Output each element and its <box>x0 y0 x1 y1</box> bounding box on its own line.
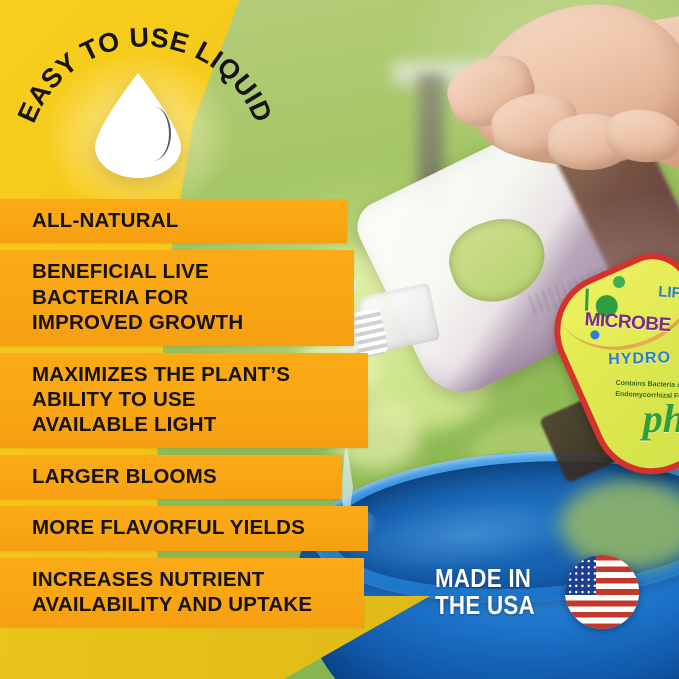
water-droplet-icon <box>95 73 181 178</box>
product-feature-image: MICROBE LIFE HYDRO Contains Bacteria & E… <box>0 0 679 679</box>
feature-band-all-natural: ALL-NATURAL <box>0 199 347 243</box>
feature-text: BENEFICIAL LIVE BACTERIA FOR IMPROVED GR… <box>32 259 344 335</box>
flag-canton <box>565 555 596 595</box>
made-in-usa-text: MADE IN THE USA <box>435 565 535 618</box>
feature-band-nutrient-uptake: INCREASES NUTRIENT AVAILABILITY AND UPTA… <box>0 558 364 628</box>
feature-text: LARGER BLOOMS <box>32 464 332 489</box>
feature-text: MAXIMIZES THE PLANT’S ABILITY TO USE AVA… <box>32 362 358 438</box>
flag-stars <box>565 555 596 595</box>
label-product-name: photo <box>643 395 679 442</box>
feature-text: MORE FLAVORFUL YIELDS <box>32 515 358 540</box>
us-flag-circle-icon <box>565 555 639 629</box>
label-line: HYDRO <box>608 349 671 369</box>
feature-band-beneficial-bacteria: BENEFICIAL LIVE BACTERIA FOR IMPROVED GR… <box>0 250 354 345</box>
feature-band-maximizes-light: MAXIMIZES THE PLANT’S ABILITY TO USE AVA… <box>0 353 368 448</box>
hand-pouring <box>430 6 679 216</box>
label-brand-suffix: LIFE <box>658 283 679 302</box>
feature-band-flavorful-yields: MORE FLAVORFUL YIELDS <box>0 506 368 550</box>
feature-text: INCREASES NUTRIENT AVAILABILITY AND UPTA… <box>32 567 354 618</box>
feature-text: ALL-NATURAL <box>32 208 337 233</box>
feature-band-larger-blooms: LARGER BLOOMS <box>0 455 342 499</box>
feature-list: ALL-NATURAL BENEFICIAL LIVE BACTERIA FOR… <box>0 199 420 634</box>
made-in-usa-badge: MADE IN THE USA <box>435 555 639 629</box>
